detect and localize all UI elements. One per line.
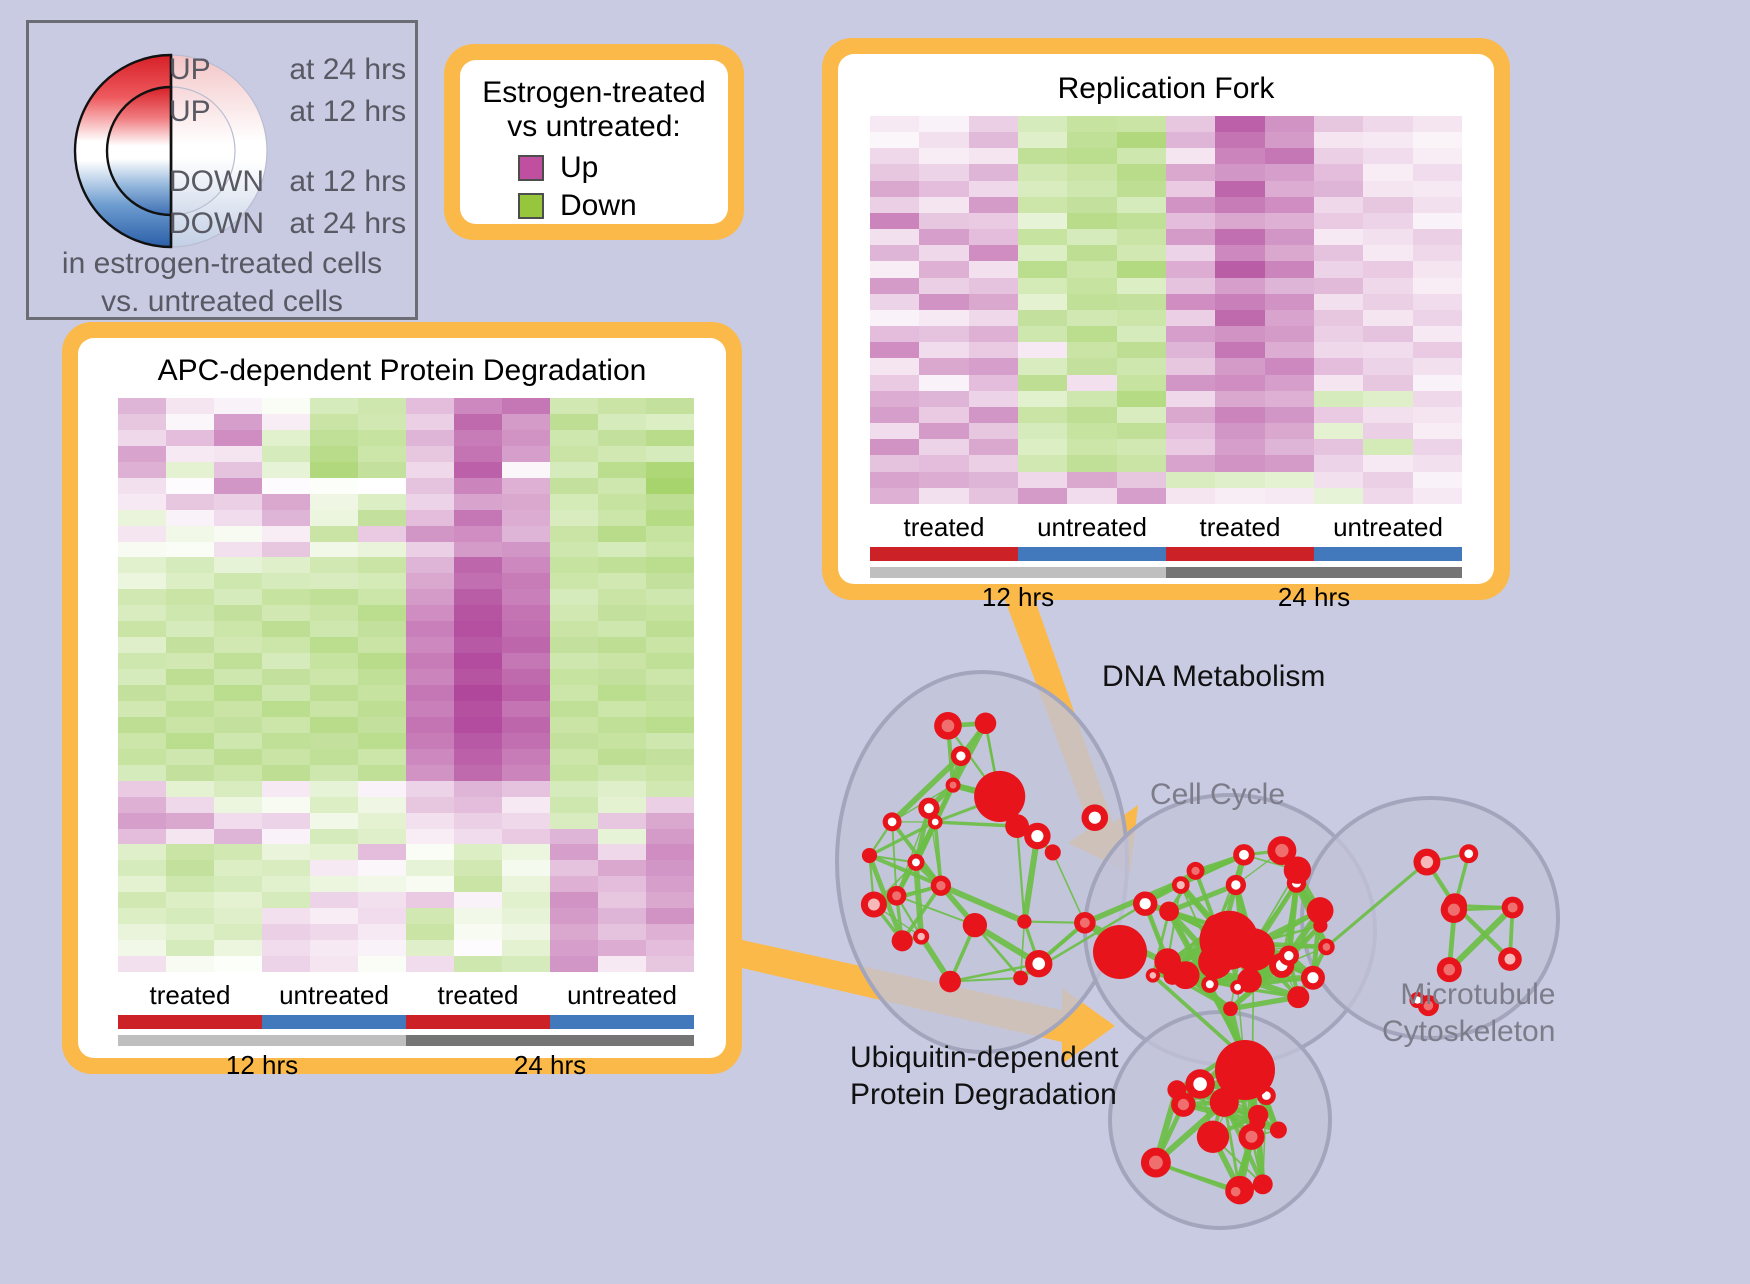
heatmap-cell [1067, 164, 1116, 180]
time-colour-segment [1166, 567, 1462, 578]
heatmap-cell [1363, 407, 1412, 423]
heatmap-cell [262, 669, 310, 685]
heatmap-cell [502, 765, 550, 781]
heatmap-cell [118, 510, 166, 526]
heatmap-cell [598, 430, 646, 446]
heatmap-cell [1117, 132, 1166, 148]
network-node[interactable] [1045, 844, 1061, 860]
heatmap-cell [166, 653, 214, 669]
heatmap-cell [118, 956, 166, 972]
heatmap-cell [502, 605, 550, 621]
heatmap-cell [919, 455, 968, 471]
heatmap-cell [1117, 197, 1166, 213]
heatmap-cell [262, 908, 310, 924]
network-node[interactable] [1005, 814, 1029, 838]
network-node[interactable] [1013, 971, 1028, 986]
heatmap-cell [1314, 310, 1363, 326]
heatmap-cell [406, 908, 454, 924]
heatmap-cell [646, 829, 694, 845]
heatmap-cell [406, 829, 454, 845]
heatmap-cell [598, 781, 646, 797]
heatmap-cell [406, 781, 454, 797]
heatmap-cell [214, 733, 262, 749]
heatmap-cell [358, 908, 406, 924]
heatmap-cell [1363, 488, 1412, 504]
heatmap-cell [550, 892, 598, 908]
network-node-core [1421, 856, 1433, 868]
heatmap-cell [502, 446, 550, 462]
heatmap-cell [214, 860, 262, 876]
heatmap-cell [502, 510, 550, 526]
heatmap-cell [919, 310, 968, 326]
heatmap-cell [166, 717, 214, 733]
heatmap-cell [118, 557, 166, 573]
heatmap-cell [454, 701, 502, 717]
heatmap-cell [406, 892, 454, 908]
microtubule-line2: Cytoskeleton [1382, 1014, 1555, 1051]
heatmap-cell [310, 430, 358, 446]
heatmap-cell [118, 892, 166, 908]
heatmap-cell [502, 940, 550, 956]
heatmap-cell [406, 749, 454, 765]
heatmap-cell [870, 439, 919, 455]
network-node[interactable] [1248, 1105, 1268, 1125]
heatmap-cell [1018, 261, 1067, 277]
heatmap-cell [1314, 342, 1363, 358]
heatmap-cell [310, 621, 358, 637]
heatmap-cell [646, 797, 694, 813]
heatmap-cell [502, 701, 550, 717]
network-node[interactable] [1253, 1174, 1273, 1194]
heatmap-cell [166, 844, 214, 860]
heatmap-cell [214, 924, 262, 940]
heatmap-cell [550, 557, 598, 573]
heatmap-cell [919, 132, 968, 148]
heatmap-cell [1265, 229, 1314, 245]
heatmap-cell [358, 892, 406, 908]
replication-fork-title: Replication Fork [838, 72, 1494, 106]
heatmap-cell [310, 701, 358, 717]
heatmap-cell [502, 430, 550, 446]
heatmap-cell [406, 446, 454, 462]
heatmap-cell [502, 813, 550, 829]
heatmap-cell [646, 956, 694, 972]
heatmap-cell [550, 605, 598, 621]
heatmap-cell [502, 653, 550, 669]
heatmap-cell [406, 510, 454, 526]
heatmap-cell [1265, 342, 1314, 358]
heatmap-cell [598, 860, 646, 876]
heatmap-cell [1215, 197, 1264, 213]
heatmap-cell [118, 813, 166, 829]
heatmap-cell [358, 589, 406, 605]
heatmap-cell [262, 876, 310, 892]
heatmap-cell [166, 478, 214, 494]
heatmap-cell [454, 924, 502, 940]
heatmap-cell [1314, 148, 1363, 164]
heatmap-cell [118, 924, 166, 940]
heatmap-cell [406, 940, 454, 956]
heatmap-cell [1215, 245, 1264, 261]
heatmap-cell [118, 844, 166, 860]
heatmap-cell [1363, 229, 1412, 245]
heatmap-cell [919, 261, 968, 277]
network-node[interactable] [939, 971, 961, 993]
network-node[interactable] [1093, 925, 1147, 979]
heatmap-cell [454, 557, 502, 573]
heatmap-cell [870, 326, 919, 342]
heatmap-cell [1018, 455, 1067, 471]
heatmap-cell [358, 956, 406, 972]
key-time-label: at 12 hrs [289, 165, 406, 198]
heatmap-cell [598, 605, 646, 621]
heatmap-cell [598, 908, 646, 924]
sample-label: treated [870, 512, 1018, 543]
network-node[interactable] [1204, 914, 1228, 938]
heatmap-cell [1067, 245, 1116, 261]
heatmap-cell [1117, 391, 1166, 407]
heatmap-cell [358, 526, 406, 542]
heatmap-cell [550, 701, 598, 717]
heatmap-cell [1018, 342, 1067, 358]
heatmap-cell [358, 860, 406, 876]
heatmap-cell [646, 589, 694, 605]
heatmap-cell [919, 181, 968, 197]
legend-item-up: Up [518, 149, 710, 187]
heatmap-cell [310, 940, 358, 956]
heatmap-cell [598, 701, 646, 717]
heatmap-cell [598, 621, 646, 637]
cluster-label-microtubule-cytoskeleton: Microtubule Cytoskeleton [1382, 977, 1555, 1050]
heatmap-cell [646, 542, 694, 558]
heatmap-cell [166, 892, 214, 908]
sample-colour-segment [1018, 547, 1166, 561]
heatmap-cell [118, 860, 166, 876]
heatmap-cell [919, 148, 968, 164]
heatmap-cell [502, 717, 550, 733]
heatmap-cell [310, 749, 358, 765]
sample-label: treated [406, 980, 550, 1011]
legend-title: Estrogen-treated vs untreated: [478, 76, 710, 143]
heatmap-cell [454, 892, 502, 908]
heatmap-cell [1067, 261, 1116, 277]
heatmap-cell [1314, 488, 1363, 504]
network-node[interactable] [892, 930, 913, 951]
heatmap-cell [870, 455, 919, 471]
heatmap-cell [1117, 213, 1166, 229]
heatmap-cell [310, 637, 358, 653]
network-node-core [942, 719, 955, 732]
network-node[interactable] [1270, 1121, 1287, 1138]
heatmap-cell [1117, 181, 1166, 197]
heatmap-cell [310, 765, 358, 781]
heatmap-cell [598, 940, 646, 956]
heatmap-cell [310, 589, 358, 605]
heatmap-cell [166, 637, 214, 653]
heatmap-cell [1265, 261, 1314, 277]
heatmap-cell [1166, 294, 1215, 310]
heatmap-cell [310, 478, 358, 494]
time-colour-bar [118, 1035, 694, 1046]
heatmap-cell [166, 749, 214, 765]
heatmap-cell [262, 924, 310, 940]
network-node[interactable] [1284, 857, 1311, 884]
heatmap-cell [598, 542, 646, 558]
heatmap-cell [919, 488, 968, 504]
network-node-core [1231, 880, 1240, 889]
heatmap-cell [646, 876, 694, 892]
heatmap-cell [262, 781, 310, 797]
heatmap-cell [454, 398, 502, 414]
heatmap-cell [502, 669, 550, 685]
heatmap-cell [214, 573, 262, 589]
heatmap-cell [1117, 342, 1166, 358]
heatmap-cell [214, 717, 262, 733]
heatmap-cell [214, 765, 262, 781]
heatmap-cell [646, 701, 694, 717]
heatmap-cell [1166, 116, 1215, 132]
sample-colour-segment [118, 1015, 262, 1029]
heatmap-cell [358, 669, 406, 685]
heatmap-cell [502, 956, 550, 972]
heatmap-cell [1413, 342, 1462, 358]
heatmap-cell [969, 423, 1018, 439]
network-node-core [924, 803, 934, 813]
heatmap-cell [1363, 213, 1412, 229]
network-node-core [956, 751, 965, 760]
heatmap-cell [1067, 472, 1116, 488]
time-colour-segment [870, 567, 1166, 578]
heatmap-cell [454, 510, 502, 526]
pathway-network: DNA Metabolism Cell Cycle Microtubule Cy… [790, 600, 1750, 1279]
heatmap-cell [870, 423, 919, 439]
heatmap-cell [1363, 310, 1412, 326]
heatmap-cell [358, 844, 406, 860]
heatmap-cell [1413, 391, 1462, 407]
network-node[interactable] [1223, 1001, 1238, 1016]
heatmap-cell [454, 669, 502, 685]
heatmap-cell [262, 956, 310, 972]
heatmap-cell [1117, 375, 1166, 391]
heatmap-cell [310, 924, 358, 940]
heatmap-cell [214, 797, 262, 813]
heatmap-cell [646, 510, 694, 526]
heatmap-cell [1363, 472, 1412, 488]
heatmap-cell [1018, 326, 1067, 342]
heatmap-cell [550, 813, 598, 829]
heatmap-cell [310, 733, 358, 749]
heatmap-cell [1363, 164, 1412, 180]
heatmap-cell [1067, 488, 1116, 504]
cluster-label-cell-cycle: Cell Cycle [1150, 778, 1285, 812]
sample-label: treated [118, 980, 262, 1011]
heatmap-cell [262, 717, 310, 733]
heatmap-cell [1314, 181, 1363, 197]
network-node[interactable] [1287, 986, 1309, 1008]
heatmap-cell [646, 526, 694, 542]
replication-fork-heatmap [870, 116, 1462, 504]
sample-colour-bar [118, 1015, 694, 1029]
heatmap-cell [646, 446, 694, 462]
heatmap-cell [646, 414, 694, 430]
heatmap-cell [358, 653, 406, 669]
network-node[interactable] [963, 913, 987, 937]
heatmap-cell [454, 781, 502, 797]
heatmap-cell [310, 526, 358, 542]
heatmap-cell [969, 164, 1018, 180]
heatmap-cell [646, 844, 694, 860]
heatmap-cell [969, 213, 1018, 229]
heatmap-cell [1166, 358, 1215, 374]
heatmap-cell [1215, 132, 1264, 148]
heatmap-cell [550, 685, 598, 701]
heatmap-cell [1215, 229, 1264, 245]
network-node-core [868, 899, 880, 911]
network-node[interactable] [1197, 1121, 1229, 1153]
network-node-core [912, 858, 920, 866]
heatmap-cell [969, 294, 1018, 310]
heatmap-cell [166, 430, 214, 446]
network-node[interactable] [975, 713, 996, 734]
heatmap-cell [1363, 132, 1412, 148]
network-node[interactable] [1172, 961, 1200, 989]
heatmap-cell [166, 414, 214, 430]
heatmap-cell [454, 430, 502, 446]
heatmap-cell [214, 844, 262, 860]
heatmap-cell [358, 573, 406, 589]
heatmap-cell [969, 455, 1018, 471]
heatmap-cell [502, 749, 550, 765]
heatmap-cell [310, 956, 358, 972]
heatmap-cell [550, 542, 598, 558]
network-node-core [1508, 902, 1518, 912]
heatmap-cell [454, 749, 502, 765]
heatmap-cell [646, 669, 694, 685]
heatmap-cell [550, 829, 598, 845]
heatmap-cell [646, 765, 694, 781]
legend-title-line1: Estrogen-treated [478, 76, 710, 110]
heatmap-cell [1413, 294, 1462, 310]
network-node[interactable] [862, 848, 877, 863]
network-node[interactable] [1017, 914, 1031, 928]
heatmap-cell [870, 294, 919, 310]
heatmap-cell [454, 605, 502, 621]
heatmap-cell [358, 940, 406, 956]
heatmap-cell [646, 924, 694, 940]
heatmap-cell [1215, 439, 1264, 455]
heatmap-cell [1265, 455, 1314, 471]
heatmap-cell [969, 342, 1018, 358]
heatmap-cell [1363, 245, 1412, 261]
heatmap-cell [1067, 132, 1116, 148]
heatmap-cell [598, 956, 646, 972]
heatmap-cell [1413, 310, 1462, 326]
network-node[interactable] [1215, 1040, 1275, 1100]
heatmap-cell [166, 446, 214, 462]
heatmap-cell [1067, 116, 1116, 132]
heatmap-cell [598, 557, 646, 573]
heatmap-cell [262, 573, 310, 589]
heatmap-cell [118, 414, 166, 430]
heatmap-cell [166, 733, 214, 749]
heatmap-cell [1413, 375, 1462, 391]
heatmap-cell [1215, 116, 1264, 132]
heatmap-cell [969, 310, 1018, 326]
heatmap-cell [969, 472, 1018, 488]
heatmap-cell [1265, 181, 1314, 197]
heatmap-cell [166, 829, 214, 845]
heatmap-cell [1314, 439, 1363, 455]
heatmap-cell [118, 669, 166, 685]
heatmap-cell [870, 229, 919, 245]
heatmap-cell [502, 398, 550, 414]
heatmap-cell [1265, 132, 1314, 148]
heatmap-cell [550, 494, 598, 510]
heatmap-cell [1265, 294, 1314, 310]
heatmap-cell [358, 621, 406, 637]
heatmap-cell [550, 621, 598, 637]
heatmap-cell [1314, 358, 1363, 374]
heatmap-cell [870, 310, 919, 326]
heatmap-cell [1166, 278, 1215, 294]
network-node-core [1464, 849, 1473, 858]
heatmap-cell [166, 398, 214, 414]
network-node[interactable] [1167, 1080, 1186, 1099]
heatmap-cell [406, 844, 454, 860]
heatmap-cell [406, 557, 454, 573]
network-node[interactable] [992, 791, 1007, 806]
cluster-label-dna-metabolism: DNA Metabolism [1102, 660, 1325, 694]
heatmap-cell [1215, 407, 1264, 423]
heatmap-cell [118, 462, 166, 478]
heatmap-cell [358, 765, 406, 781]
heatmap-cell [1018, 488, 1067, 504]
heatmap-cell [1067, 278, 1116, 294]
sample-colour-segment [870, 547, 1018, 561]
heatmap-cell [1363, 181, 1412, 197]
heatmap-cell [598, 844, 646, 860]
heatmap-cell [1363, 197, 1412, 213]
heatmap-cell [214, 462, 262, 478]
heatmap-cell [310, 398, 358, 414]
heatmap-cell [166, 526, 214, 542]
heatmap-cell [214, 414, 262, 430]
heatmap-cell [870, 148, 919, 164]
heatmap-cell [646, 685, 694, 701]
heatmap-cell [1363, 375, 1412, 391]
heatmap-cell [870, 472, 919, 488]
heatmap-cell [1166, 407, 1215, 423]
heatmap-cell [118, 542, 166, 558]
heatmap-cell [646, 892, 694, 908]
heatmap-cell [1215, 181, 1264, 197]
heatmap-cell [406, 876, 454, 892]
heatmap-cell [502, 621, 550, 637]
heatmap-cell [358, 542, 406, 558]
heatmap-cell [454, 526, 502, 542]
network-node[interactable] [1242, 932, 1265, 955]
heatmap-cell [1018, 358, 1067, 374]
legend-label-down: Down [560, 189, 637, 223]
heatmap-cell [1265, 310, 1314, 326]
heatmap-cell [1265, 472, 1314, 488]
network-node[interactable] [1307, 897, 1334, 924]
heatmap-cell [1363, 439, 1412, 455]
heatmap-cell [502, 844, 550, 860]
heatmap-cell [550, 446, 598, 462]
expression-colour-key: UP at 24 hrs UP at 12 hrs DOWN at 12 hrs… [26, 20, 418, 320]
network-node[interactable] [1159, 901, 1179, 921]
